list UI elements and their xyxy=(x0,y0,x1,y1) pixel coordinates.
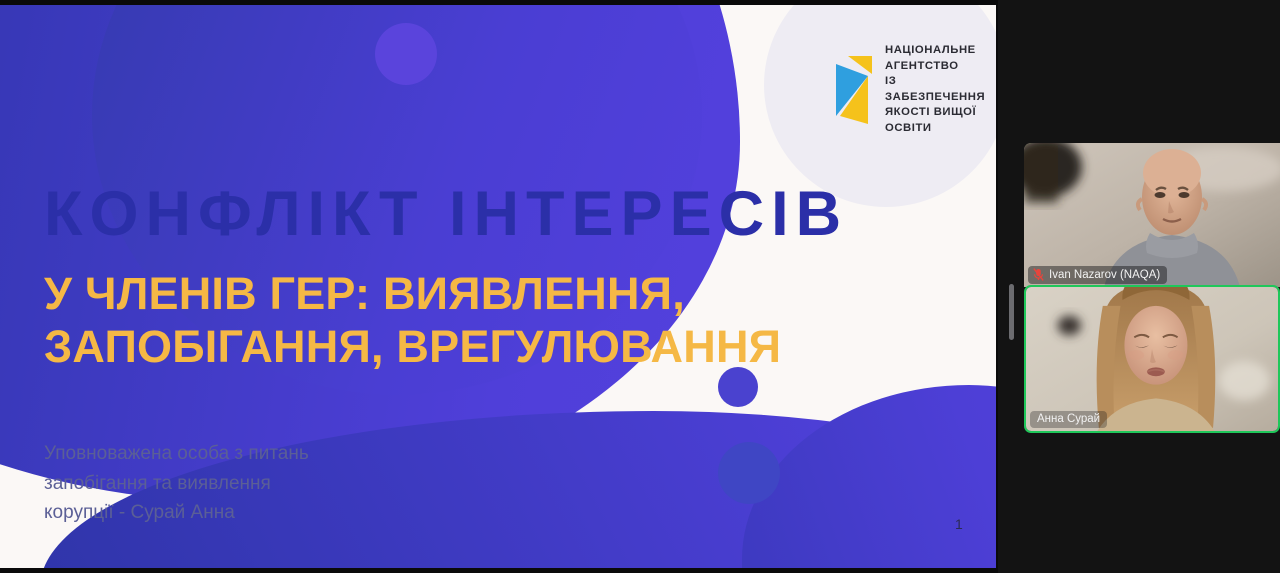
participant-nameplate-ivan-nazarov: Ivan Nazarov (NAQA) xyxy=(1028,266,1167,284)
decorative-dot-bottom-large xyxy=(718,442,780,504)
participant-tile-ivan-nazarov[interactable]: Ivan Nazarov (NAQA) xyxy=(1024,143,1280,287)
meeting-screen: Національне агентство із забезпечення як… xyxy=(0,0,1280,573)
naqa-logo-mark-icon xyxy=(832,54,876,126)
slide-subtitle: У ЧЛЕНІВ ГЕР: ВИЯВЛЕННЯ, ЗАПОБІГАННЯ, ВР… xyxy=(44,267,944,373)
participant-name-ivan-nazarov: Ivan Nazarov (NAQA) xyxy=(1049,269,1160,281)
participant-name-anna-surai: Анна Сурай xyxy=(1037,413,1100,425)
participant-tile-anna-surai[interactable]: Анна Сурай xyxy=(1024,285,1280,433)
slide-page-number: 1 xyxy=(955,516,963,532)
participant-rail-scrollbar[interactable] xyxy=(1009,284,1014,340)
naqa-logo: Національне агентство із забезпечення як… xyxy=(832,43,996,136)
presentation-slide[interactable]: Національне агентство із забезпечення як… xyxy=(0,5,996,568)
slide-byline: Уповноважена особа з питань запобігання … xyxy=(44,439,309,528)
participant-video-anna-surai xyxy=(1026,287,1278,431)
mic-muted-icon xyxy=(1033,268,1044,281)
screen-share-stage[interactable]: Національне агентство із забезпечення як… xyxy=(0,0,998,573)
slide-title: КОНФЛІКТ ІНТЕРЕСІВ xyxy=(44,183,848,246)
decorative-dot-top xyxy=(375,23,437,85)
participant-video-rail: Ivan Nazarov (NAQA) xyxy=(998,0,1280,573)
decorative-blob-bottom-rise xyxy=(742,385,996,568)
naqa-logo-text: Національне агентство із забезпечення як… xyxy=(885,43,996,136)
participant-nameplate-anna-surai: Анна Сурай xyxy=(1030,411,1107,428)
